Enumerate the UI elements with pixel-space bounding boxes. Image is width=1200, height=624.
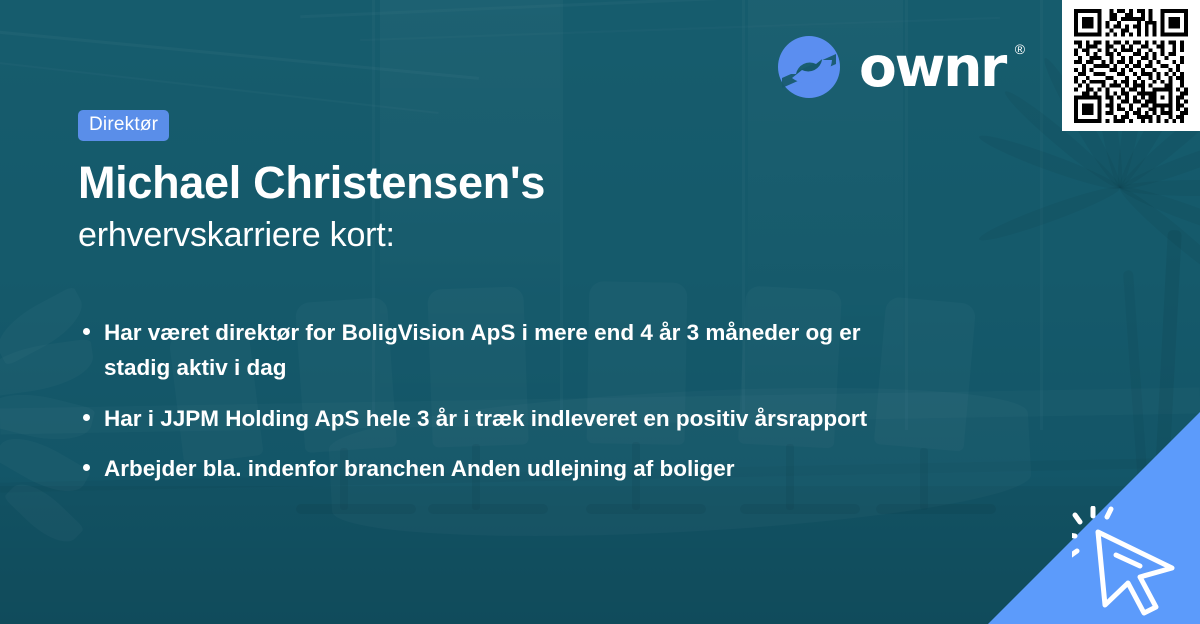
qr-code-icon[interactable]: [1074, 9, 1188, 123]
ownr-circle-swirl-icon: [776, 34, 842, 100]
career-facts-list: Har været direktør for BoligVision ApS i…: [78, 316, 958, 488]
list-item: Arbejder bla. indenfor branchen Anden ud…: [78, 452, 868, 487]
page-title: Michael Christensen's: [78, 159, 958, 207]
list-item-text: Har i JJPM Holding ApS hele 3 år i træk …: [104, 406, 867, 431]
promo-card: ownr® Direktør Michael Christensen's erh…: [0, 0, 1200, 624]
content-block: Direktør Michael Christensen's erhvervsk…: [78, 110, 958, 503]
ownr-logo[interactable]: ownr®: [776, 34, 1005, 100]
bullet-dot-icon: [83, 414, 90, 421]
ownr-wordmark: ownr®: [859, 40, 1005, 95]
list-item-text: Arbejder bla. indenfor branchen Anden ud…: [104, 456, 734, 481]
bullet-dot-icon: [83, 328, 90, 335]
list-item: Har været direktør for BoligVision ApS i…: [78, 316, 868, 386]
ownr-wordmark-text: ownr: [859, 35, 1005, 99]
bullet-dot-icon: [83, 464, 90, 471]
list-item: Har i JJPM Holding ApS hele 3 år i træk …: [78, 402, 868, 437]
click-cursor-icon: [1072, 506, 1190, 616]
page-subtitle: erhvervskarriere kort:: [78, 216, 958, 254]
role-badge: Direktør: [78, 110, 169, 141]
registered-trademark-symbol: ®: [1015, 42, 1025, 56]
list-item-text: Har været direktør for BoligVision ApS i…: [104, 320, 860, 380]
qr-code-panel[interactable]: [1062, 0, 1200, 131]
